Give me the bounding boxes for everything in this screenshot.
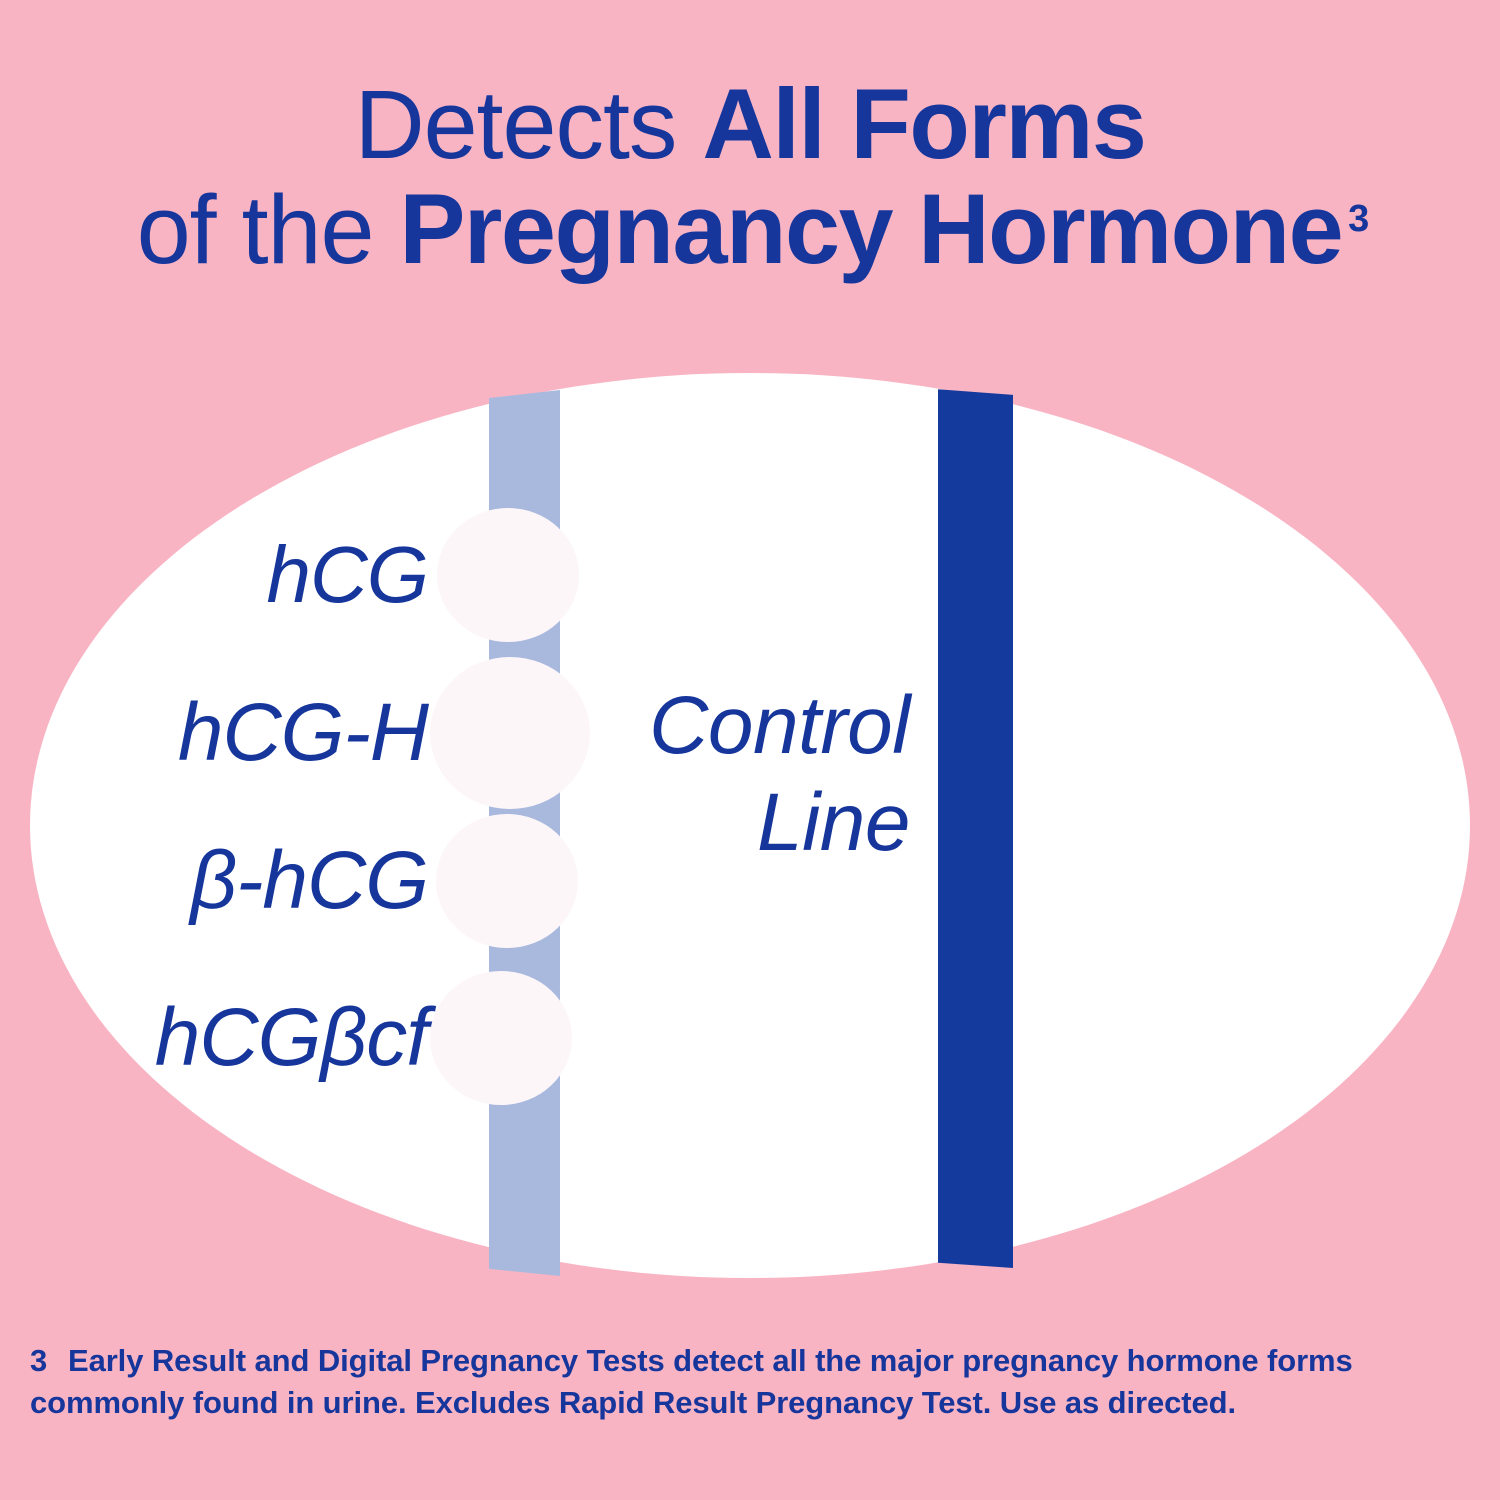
hormone-label: hCG (228, 535, 428, 615)
footnote-text: Early Result and Digital Pregnancy Tests… (30, 1343, 1353, 1420)
hormone-label: hCG-H (150, 692, 428, 774)
dot-halo (436, 814, 578, 948)
footnote: 3Early Result and Digital Pregnancy Test… (30, 1340, 1470, 1425)
dot-halo (437, 508, 579, 642)
hormone-label: hCGβcf (130, 997, 428, 1079)
page-title: Detects All Forms of the Pregnancy Hormo… (0, 72, 1500, 282)
headline-line-2: of the Pregnancy Hormone3 (0, 177, 1500, 282)
headline-line-1-bold: All Forms (702, 68, 1145, 179)
headline-line-1-light: Detects (355, 70, 703, 179)
dot-halo (430, 971, 572, 1105)
infographic-canvas: Detects All Forms of the Pregnancy Hormo… (0, 0, 1500, 1500)
list-item: hCG-H (150, 681, 562, 785)
pink-dot-icon (464, 838, 550, 924)
dot-halo (430, 657, 590, 809)
control-line-label: Control Line (590, 678, 910, 872)
headline-footnote-superscript: 3 (1348, 198, 1369, 240)
test-strip-control-line-band (938, 387, 1013, 1268)
headline-line-1: Detects All Forms (0, 72, 1500, 177)
headline-line-2-light: of the (137, 175, 400, 284)
headline-line-2-bold: Pregnancy Hormone (399, 173, 1342, 284)
hormone-label: β-hCG (160, 840, 428, 922)
pink-dot-icon (464, 531, 552, 619)
list-item: hCGβcf (130, 995, 544, 1081)
pink-dot-icon (458, 681, 562, 785)
list-item: β-hCG (160, 838, 550, 924)
footnote-marker: 3 (30, 1340, 68, 1382)
control-line-label-line1: Control (590, 678, 910, 775)
pink-dot-icon (458, 995, 544, 1081)
control-line-label-line2: Line (590, 775, 910, 872)
list-item: hCG (228, 531, 552, 619)
